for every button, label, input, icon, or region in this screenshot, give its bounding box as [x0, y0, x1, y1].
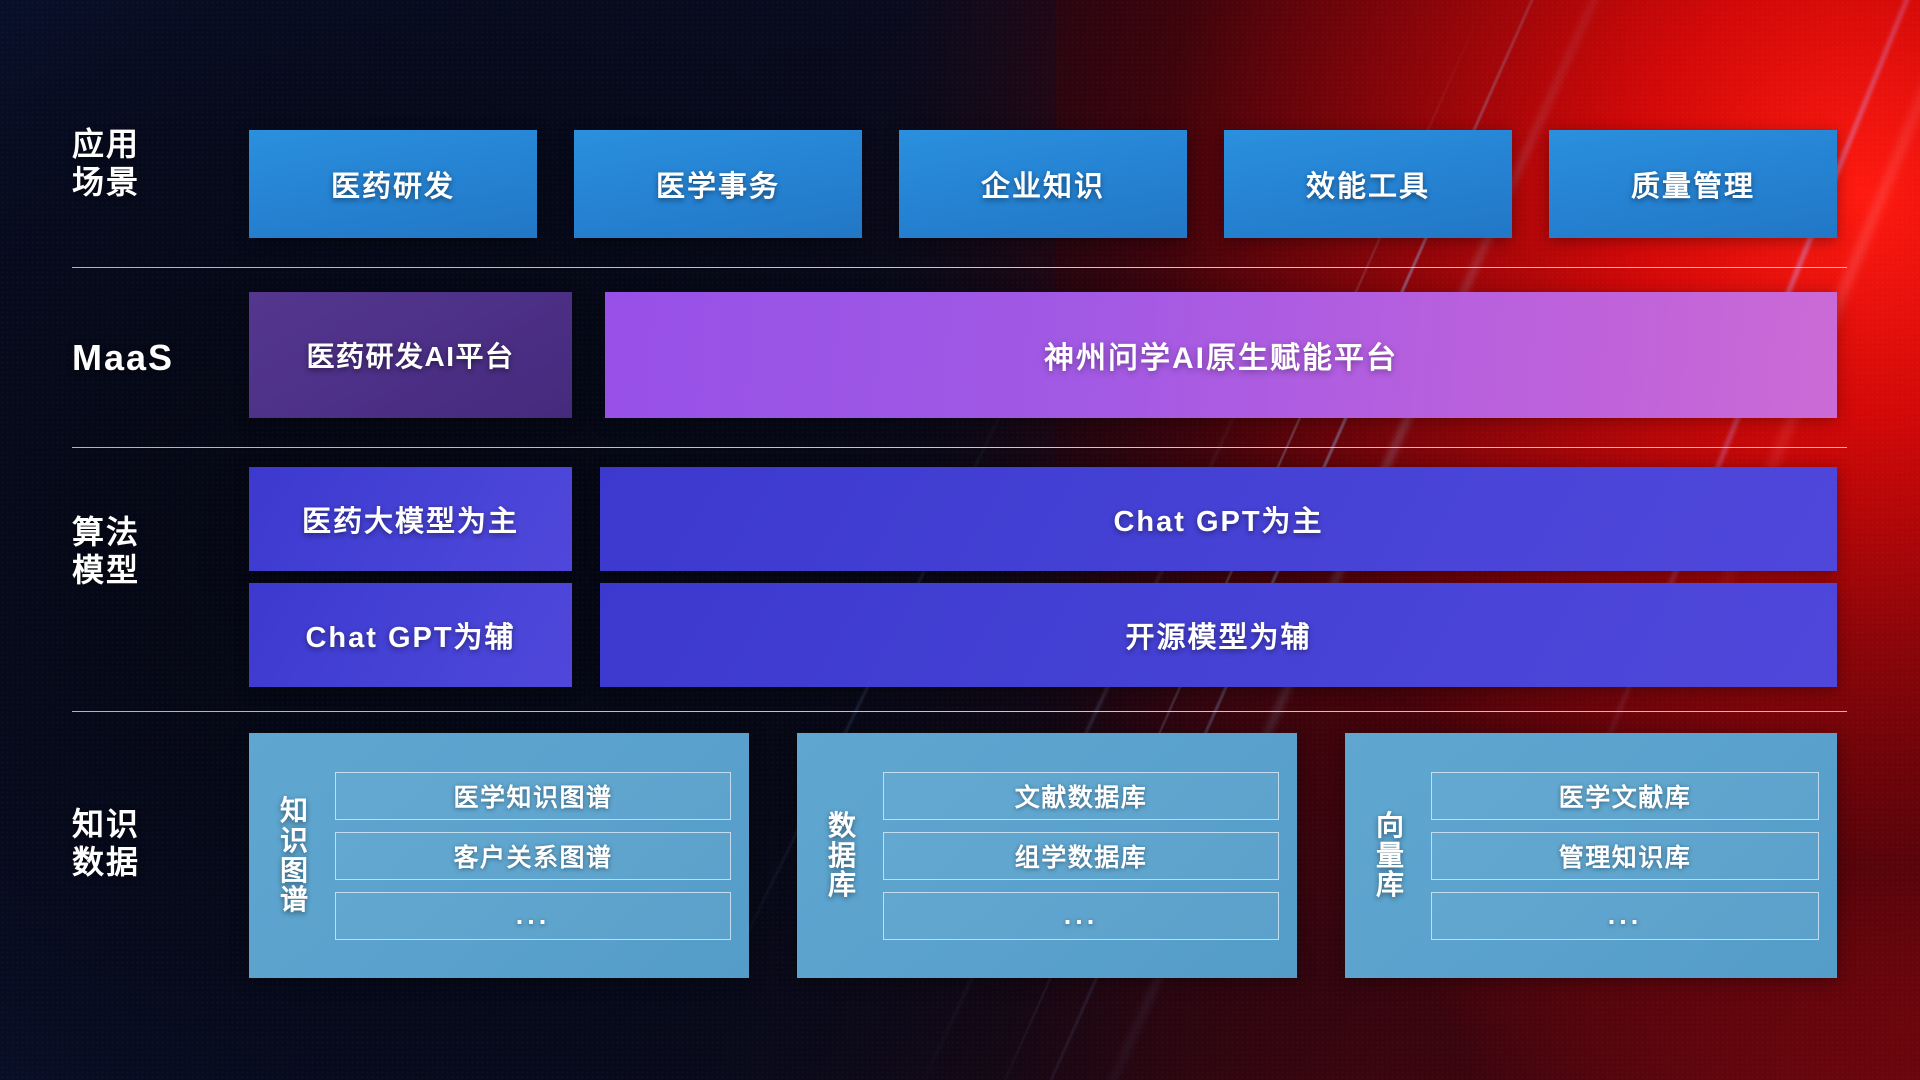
knowledge-item-more[interactable]: ...: [1431, 892, 1819, 940]
knowledge-item-more[interactable]: ...: [883, 892, 1279, 940]
knowledge-group-2[interactable]: 向 量 库 医学文献库 管理知识库 ...: [1345, 733, 1837, 978]
divider-2: [72, 447, 1847, 448]
algo-box-1[interactable]: Chat GPT为主: [600, 467, 1837, 571]
knowledge-item[interactable]: 文献数据库: [883, 772, 1279, 820]
app-box-4[interactable]: 质量管理: [1549, 130, 1837, 238]
knowledge-group-1[interactable]: 数 据 库 文献数据库 组学数据库 ...: [797, 733, 1297, 978]
knowledge-item-more[interactable]: ...: [335, 892, 731, 940]
maas-left-box[interactable]: 医药研发AI平台: [249, 292, 572, 418]
app-box-0[interactable]: 医药研发: [249, 130, 537, 238]
knowledge-group-1-items: 文献数据库 组学数据库 ...: [883, 772, 1279, 940]
knowledge-item[interactable]: 客户关系图谱: [335, 832, 731, 880]
knowledge-group-0-title: 知 识 图 谱: [263, 796, 325, 915]
knowledge-item[interactable]: 医学知识图谱: [335, 772, 731, 820]
divider-1: [72, 267, 1847, 268]
algo-box-0[interactable]: 医药大模型为主: [249, 467, 572, 571]
architecture-diagram: 应用 场景 医药研发 医学事务 企业知识 效能工具 质量管理 MaaS 医药研发…: [0, 0, 1920, 1080]
divider-3: [72, 711, 1847, 712]
knowledge-group-2-title: 向 量 库: [1359, 811, 1421, 900]
app-box-3[interactable]: 效能工具: [1224, 130, 1512, 238]
algo-box-3[interactable]: 开源模型为辅: [600, 583, 1837, 687]
algo-box-2[interactable]: Chat GPT为辅: [249, 583, 572, 687]
knowledge-group-2-items: 医学文献库 管理知识库 ...: [1431, 772, 1819, 940]
row-label-application: 应用 场景: [72, 126, 140, 202]
knowledge-item[interactable]: 医学文献库: [1431, 772, 1819, 820]
knowledge-group-0[interactable]: 知 识 图 谱 医学知识图谱 客户关系图谱 ...: [249, 733, 749, 978]
maas-right-box[interactable]: 神州问学AI原生赋能平台: [605, 292, 1837, 418]
knowledge-item[interactable]: 管理知识库: [1431, 832, 1819, 880]
row-label-maas: MaaS: [72, 337, 174, 379]
knowledge-group-0-items: 医学知识图谱 客户关系图谱 ...: [335, 772, 731, 940]
row-label-knowledge: 知识 数据: [72, 806, 140, 882]
app-box-1[interactable]: 医学事务: [574, 130, 862, 238]
row-label-algorithm: 算法 模型: [72, 514, 140, 590]
knowledge-group-1-title: 数 据 库: [811, 811, 873, 900]
knowledge-item[interactable]: 组学数据库: [883, 832, 1279, 880]
app-box-2[interactable]: 企业知识: [899, 130, 1187, 238]
